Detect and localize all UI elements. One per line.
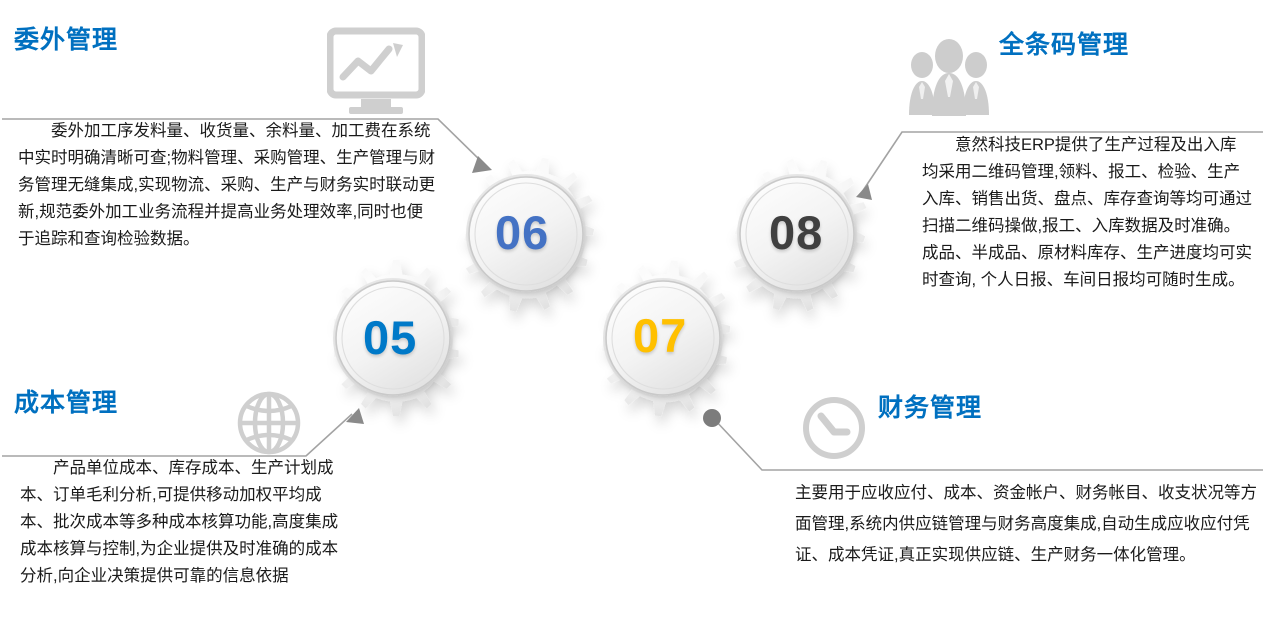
people-group-icon xyxy=(905,37,993,117)
connector-head-cost xyxy=(346,408,364,424)
connector-head-outsourcing xyxy=(472,156,492,173)
monitor-chart-icon xyxy=(327,27,425,119)
gear-number-08: 08 xyxy=(769,209,823,256)
body-finance: 主要用于应收应付、成本、资金帐户、财务帐目、收支状况等方面管理,系统内供应链管理… xyxy=(795,478,1260,571)
connector-finance xyxy=(714,419,1263,470)
connector-head-barcode xyxy=(856,184,872,200)
body-outsourcing: 委外加工序发料量、收货量、余料量、加工费在系统中实时明确清晰可查;物料管理、采购… xyxy=(18,118,438,253)
heading-finance: 财务管理 xyxy=(878,396,982,421)
gear-number-07: 07 xyxy=(633,312,687,359)
connector-head-finance xyxy=(703,409,721,427)
infographic-canvas: 05 06 07 08 委外管理 成本管理 全条码管理 财务管理 委外加工序发料… xyxy=(0,0,1265,635)
body-barcode: 意然科技ERP提供了生产过程及出入库均采用二维码管理,领料、报工、检验、生产入库… xyxy=(922,132,1252,294)
gear-number-05: 05 xyxy=(363,314,417,361)
heading-outsourcing: 委外管理 xyxy=(14,28,118,53)
body-cost: 产品单位成本、库存成本、生产计划成本、订单毛利分析,可提供移动加权平均成本、批次… xyxy=(20,455,340,590)
heading-barcode: 全条码管理 xyxy=(999,33,1129,58)
globe-icon xyxy=(236,390,302,456)
heading-cost: 成本管理 xyxy=(14,391,118,416)
gear-number-06: 06 xyxy=(495,209,549,256)
clock-icon xyxy=(800,394,868,462)
